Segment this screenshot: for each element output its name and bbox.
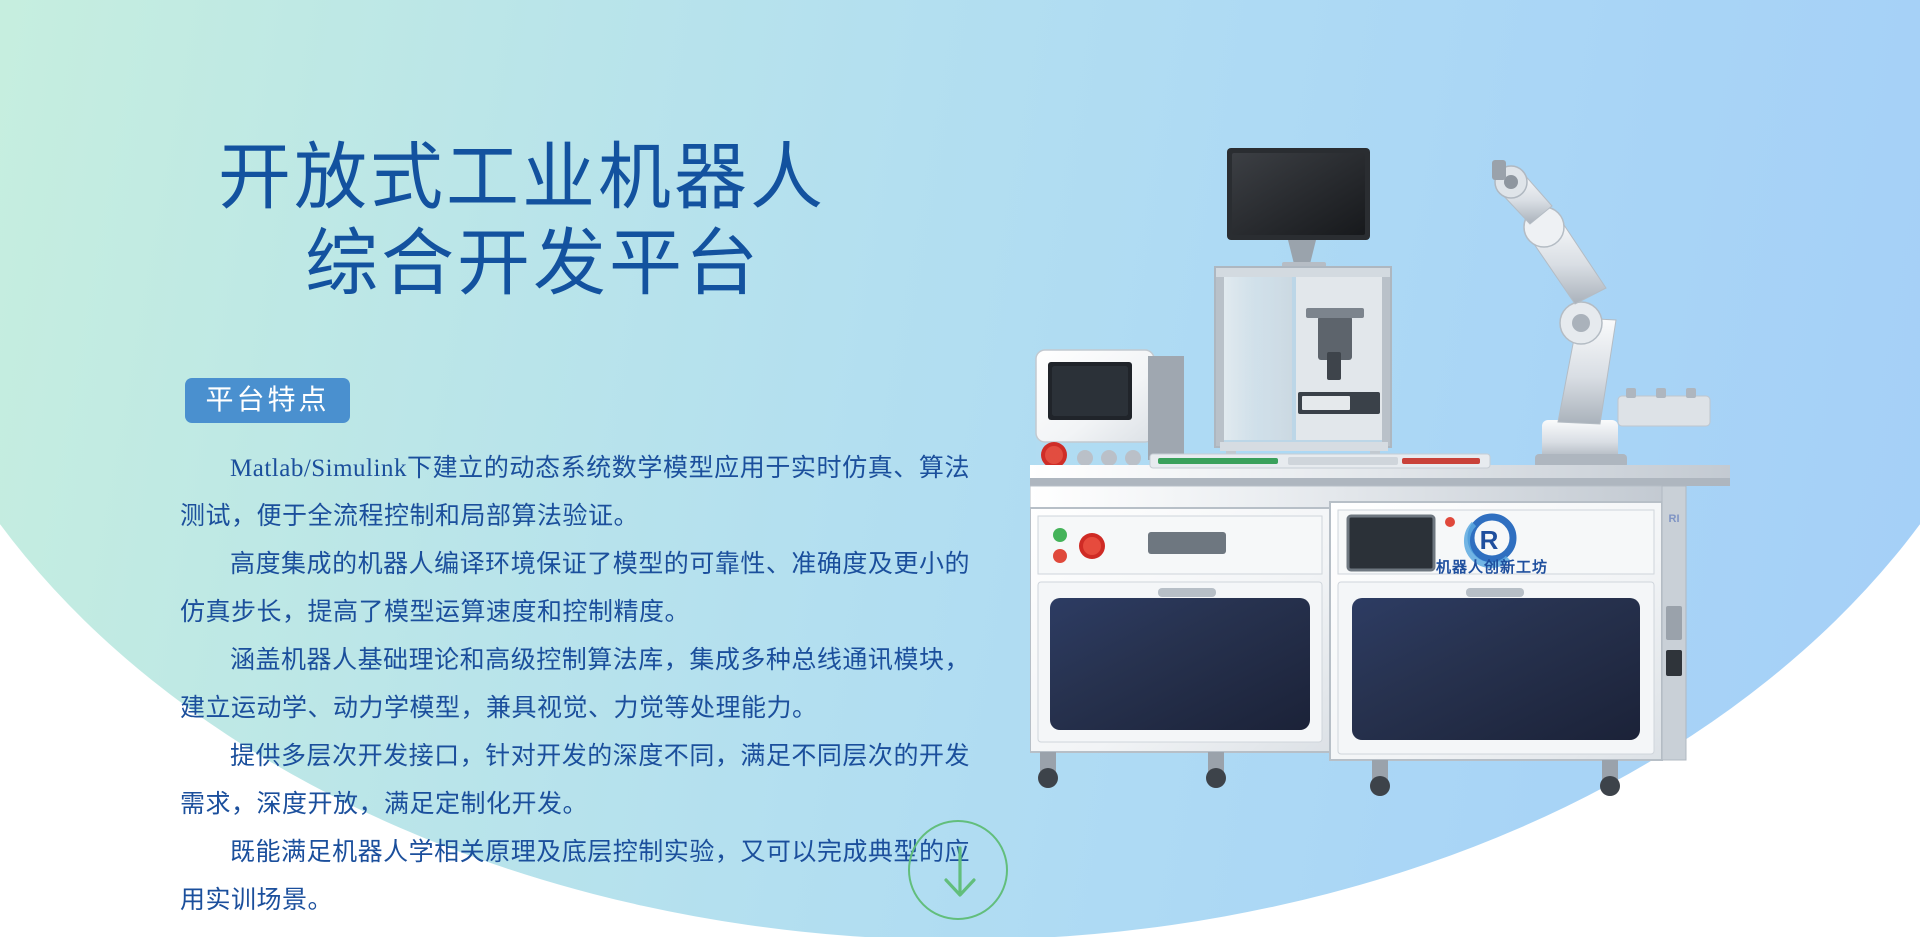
feature-list: Matlab/Simulink下建立的动态系统数学模型应用于实时仿真、算法测试，… bbox=[180, 445, 970, 925]
scroll-down-button[interactable] bbox=[908, 820, 1008, 920]
platform-features-badge: 平台特点 bbox=[185, 378, 350, 423]
equipment-cabinet: R 机器人创新工坊 RI bbox=[1030, 486, 1686, 760]
feature-item: 高度集成的机器人编译环境保证了模型的可靠性、准确度及更小的仿真步长，提高了模型运… bbox=[180, 541, 970, 637]
feature-item: Matlab/Simulink下建立的动态系统数学模型应用于实时仿真、算法测试，… bbox=[180, 445, 970, 541]
page-title-line-1: 开放式工业机器人 bbox=[218, 136, 826, 220]
hero-banner: 开放式工业机器人 综合开发平台 平台特点 Matlab/Simulink下建立的… bbox=[0, 0, 1920, 937]
svg-text:机器人创新工坊: 机器人创新工坊 bbox=[1436, 558, 1548, 576]
robot-arm bbox=[1492, 160, 1710, 468]
feature-item: 既能满足机器人学相关原理及底层控制实验，又可以完成典型的应用实训场景。 bbox=[180, 829, 970, 925]
arrow-down-icon bbox=[910, 822, 1010, 922]
feature-item: 提供多层次开发接口，针对开发的深度不同，满足不同层次的开发需求，深度开放，满足定… bbox=[180, 733, 970, 829]
platform-features-badge-label: 平台特点 bbox=[205, 387, 329, 415]
page-title-line-2: 综合开发平台 bbox=[305, 222, 761, 306]
product-photo: R 机器人创新工坊 RI bbox=[1030, 120, 1770, 800]
svg-text:R: R bbox=[1480, 525, 1499, 555]
hero-text-column: 开放式工业机器人 综合开发平台 平台特点 Matlab/Simulink下建立的… bbox=[0, 0, 1000, 937]
svg-text:RI: RI bbox=[1669, 513, 1680, 525]
feature-item: 涵盖机器人基础理论和高级控制算法库，集成多种总线通讯模块，建立运动学、动力学模型… bbox=[180, 637, 970, 733]
overhead-monitor bbox=[1227, 148, 1370, 269]
